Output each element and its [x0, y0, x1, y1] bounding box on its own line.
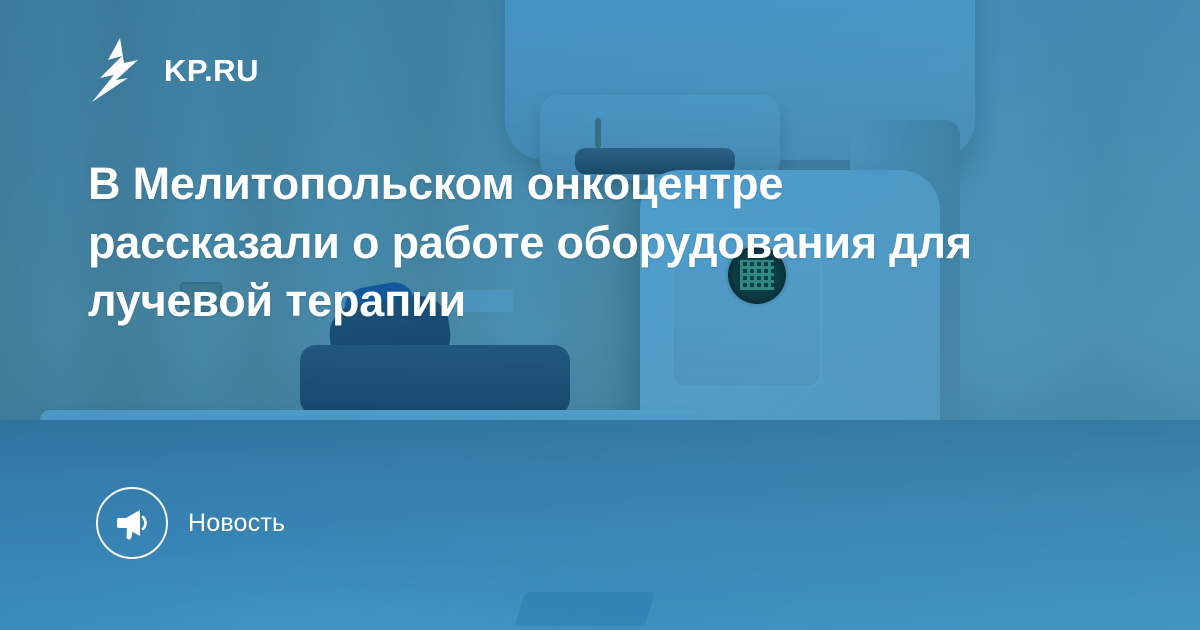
- megaphone-icon: [96, 487, 168, 559]
- brand-name: KP.RU: [164, 55, 259, 86]
- badge-label: Новость: [188, 509, 285, 538]
- social-share-card: KP.RU В Мелитопольском онкоцентре расска…: [0, 0, 1200, 630]
- brand-logo[interactable]: KP.RU: [88, 38, 259, 102]
- content-type-badge[interactable]: Новость: [96, 487, 285, 559]
- headline-text: В Мелитопольском онкоцентре рассказали о…: [88, 155, 1018, 331]
- card-content: KP.RU В Мелитопольском онкоцентре расска…: [0, 0, 1200, 630]
- swallow-bird-icon: [88, 38, 146, 102]
